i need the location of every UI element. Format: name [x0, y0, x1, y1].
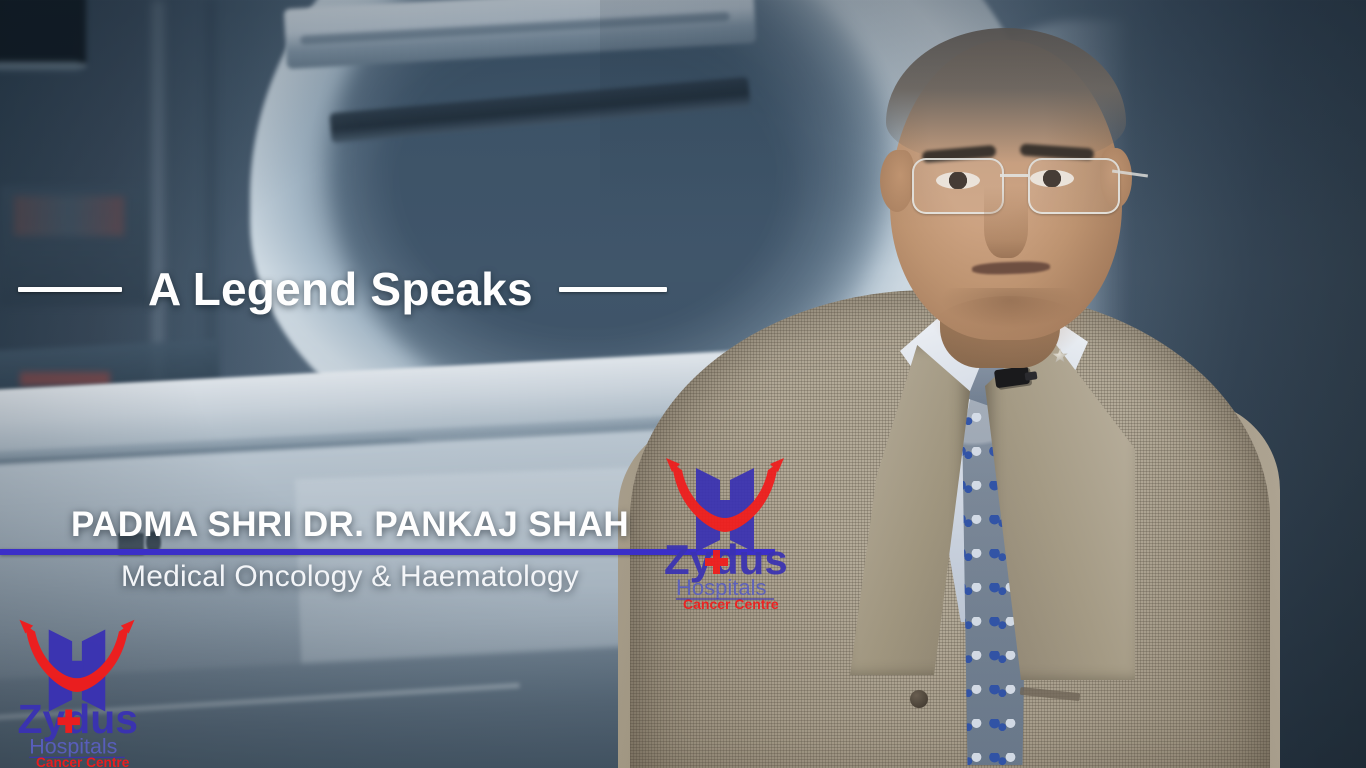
- zydus-logo-watermark: Zydus Hospitals Cancer Centre: [650, 450, 800, 610]
- subject-nose: [984, 186, 1028, 258]
- zydus-logo-corner: Zydus Hospitals Cancer Centre: [2, 612, 152, 768]
- subject-hair: [886, 28, 1126, 163]
- eyeglass-lens-right: [1028, 158, 1120, 214]
- subject-chin-shadow: [940, 288, 1080, 328]
- subject-ear-left: [880, 150, 914, 212]
- zydus-smile-arc: [19, 620, 134, 692]
- zydus-tagline: Cancer Centre: [683, 596, 779, 610]
- headline-rule-right: [559, 287, 667, 292]
- jacket-button: [910, 690, 928, 708]
- microphone-clip: [1025, 371, 1038, 381]
- headline-title: A Legend Speaks: [148, 262, 533, 316]
- headline-banner: A Legend Speaks: [0, 252, 760, 326]
- subject-designation: Medical Oncology & Haematology: [0, 560, 700, 594]
- eyeglass-bridge: [1000, 174, 1028, 177]
- video-frame: A Legend Speaks PADMA SHRI DR. PANKAJ SH…: [0, 0, 1366, 768]
- zydus-smile-arc: [666, 458, 784, 532]
- headline-rule-left: [18, 287, 122, 292]
- subject-name: PADMA SHRI DR. PANKAJ SHAH: [0, 505, 700, 545]
- interview-subject: [600, 0, 1366, 768]
- zydus-tagline: Cancer Centre: [36, 755, 130, 768]
